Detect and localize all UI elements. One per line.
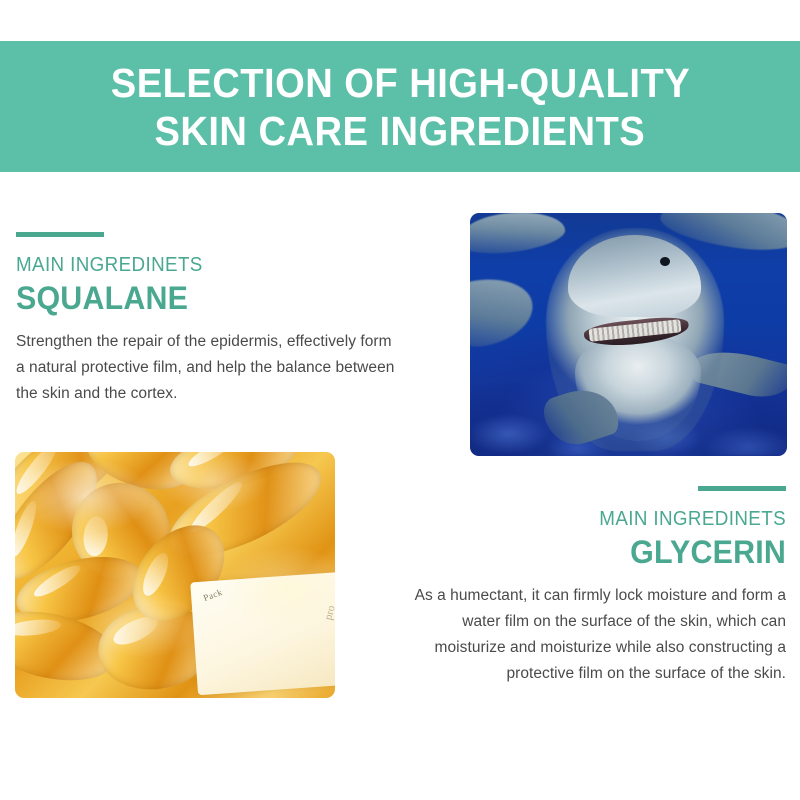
oil-label-text-2: pro: [322, 605, 335, 622]
shark-background-left: [470, 269, 539, 353]
ingredient-block-squalane: MAIN INGREDINETS SQUALANE Strengthen the…: [16, 232, 396, 407]
shark-background-top-left: [470, 213, 567, 258]
image-shark-underwater: [470, 213, 787, 456]
oil-product-label: Pack pro: [190, 572, 335, 696]
page-header-banner: SELECTION OF HIGH-QUALITY SKIN CARE INGR…: [0, 41, 800, 172]
ingredient-description-glycerin: As a humectant, it can firmly lock moist…: [404, 583, 786, 687]
oil-label-text-1: Pack: [203, 587, 225, 603]
ingredient-eyebrow-glycerin: MAIN INGREDINETS: [427, 507, 786, 531]
accent-bar-squalane: [16, 232, 104, 237]
accent-bar-glycerin: [698, 486, 786, 491]
ingredient-eyebrow-squalane: MAIN INGREDINETS: [16, 253, 373, 277]
ingredient-description-squalane: Strengthen the repair of the epidermis, …: [16, 329, 396, 407]
page-title-line-2: SKIN CARE INGREDIENTS: [155, 107, 646, 155]
ingredient-name-squalane: SQUALANE: [16, 279, 377, 317]
image-oil-capsules: Pack pro: [15, 452, 335, 698]
ingredient-name-glycerin: GLYCERIN: [423, 533, 786, 571]
page-title-line-1: SELECTION OF HIGH-QUALITY: [110, 59, 689, 107]
ingredient-block-glycerin: MAIN INGREDINETS GLYCERIN As a humectant…: [404, 486, 786, 687]
